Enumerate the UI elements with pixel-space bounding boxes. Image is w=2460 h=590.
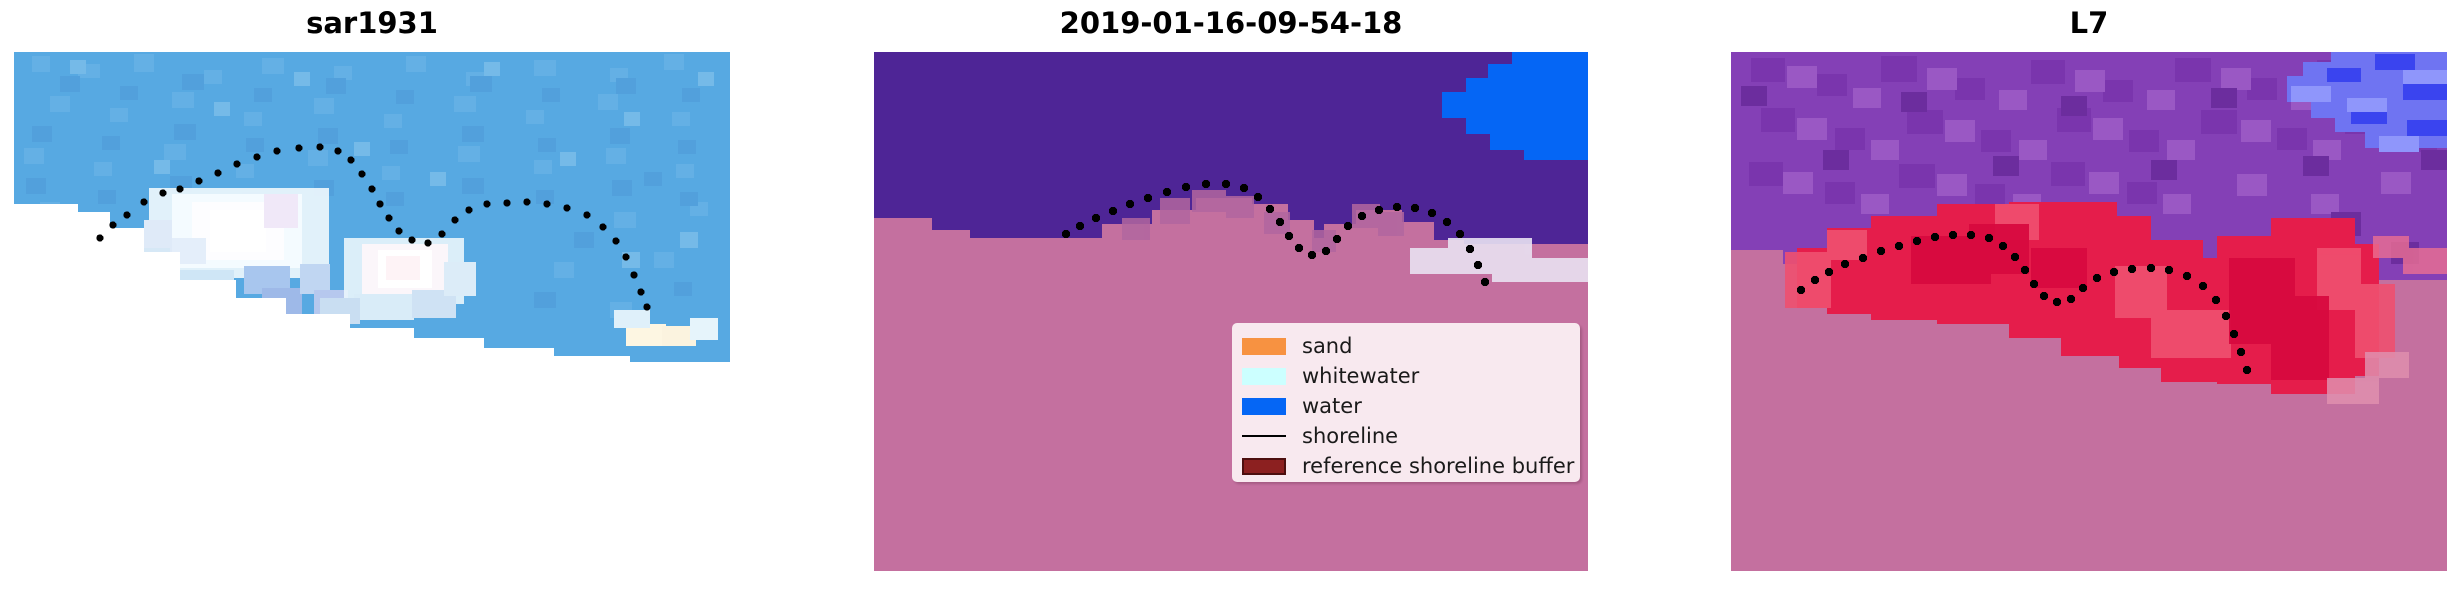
axes-sar: [14, 52, 730, 370]
panel-title-sar: sar1931: [14, 6, 730, 40]
whitewater-color-swatch: [1242, 368, 1286, 385]
legend-label-reference-shoreline-buffer: reference shoreline buffer: [1302, 456, 1574, 477]
legend-label-water: water: [1302, 396, 1362, 417]
legend-label-shoreline: shoreline: [1302, 426, 1398, 447]
panel-sar: sar1931: [14, 0, 730, 590]
panel-l7: L7: [1731, 0, 2447, 590]
water-color-swatch: [1242, 398, 1286, 415]
panel-classified: 2019-01-16-09-54-18: [874, 0, 1588, 590]
legend-item-sand[interactable]: sand: [1242, 331, 1568, 361]
l7-raster-image: [1731, 52, 2447, 571]
figure-canvas: sar1931: [0, 0, 2460, 590]
legend-item-shoreline[interactable]: shoreline: [1242, 421, 1568, 451]
legend-label-whitewater: whitewater: [1302, 366, 1419, 387]
legend-label-sand: sand: [1302, 336, 1352, 357]
panel-title-classified: 2019-01-16-09-54-18: [874, 6, 1588, 40]
legend-item-reference-shoreline-buffer[interactable]: reference shoreline buffer: [1242, 451, 1568, 481]
shoreline-line-sample: [1242, 428, 1286, 445]
axes-classified: sand whitewater water shoreline: [874, 52, 1588, 571]
classified-raster-image: [874, 52, 1588, 571]
panel-title-l7: L7: [1731, 6, 2447, 40]
reference-buffer-color-swatch: [1242, 458, 1286, 475]
sand-color-swatch: [1242, 338, 1286, 355]
axes-l7: [1731, 52, 2447, 571]
legend-item-water[interactable]: water: [1242, 391, 1568, 421]
legend-box: sand whitewater water shoreline: [1232, 323, 1580, 482]
legend-item-whitewater[interactable]: whitewater: [1242, 361, 1568, 391]
sar-raster-image: [14, 52, 730, 370]
